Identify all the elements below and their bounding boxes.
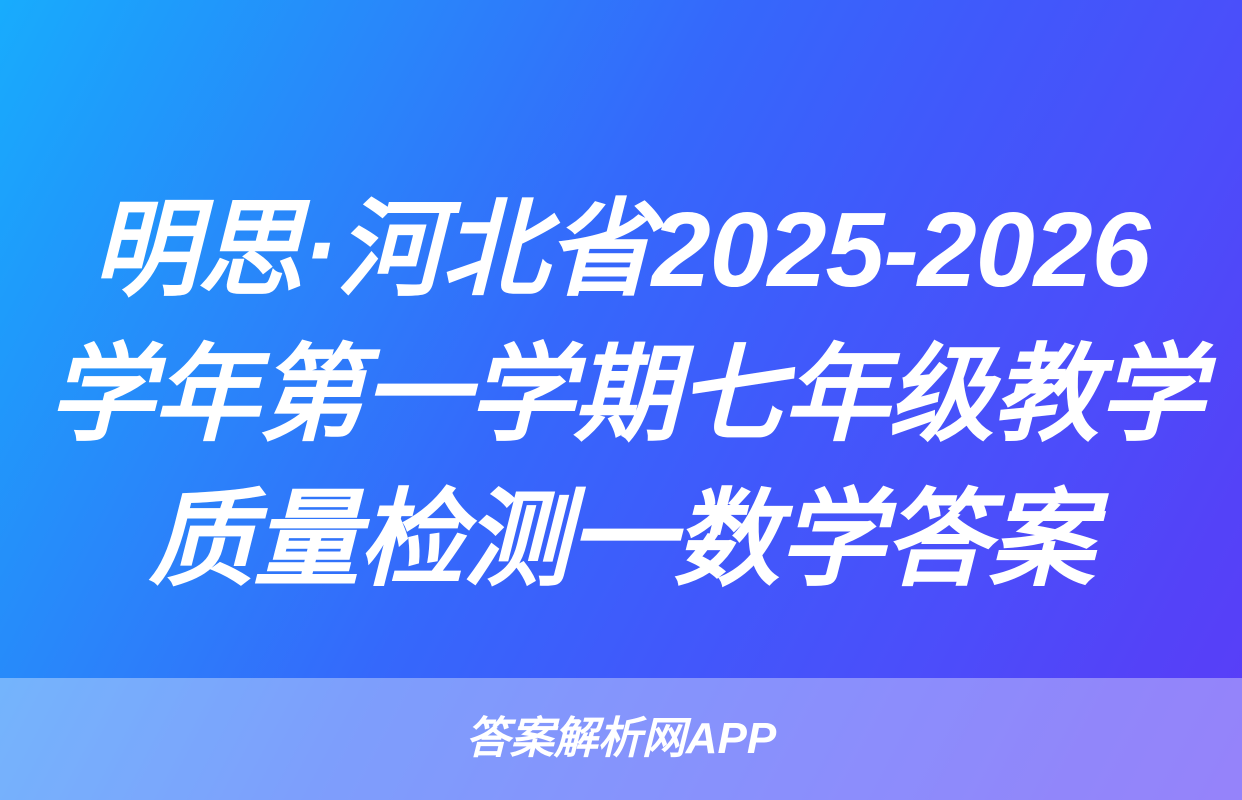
title-line-1: 明思·河北省2025-2026 <box>48 178 1194 323</box>
page-title: 明思·河北省2025-2026 学年第一学期七年级教学 质量检测一数学答案 <box>0 178 1242 613</box>
poster-card: 明思·河北省2025-2026 学年第一学期七年级教学 质量检测一数学答案 答案… <box>0 0 1242 800</box>
footer-brand-band: 答案解析网APP <box>0 678 1242 800</box>
app-brand-label: 答案解析网APP <box>466 717 776 761</box>
title-line-3: 质量检测一数学答案 <box>48 468 1194 613</box>
title-line-2: 学年第一学期七年级教学 <box>48 323 1194 468</box>
